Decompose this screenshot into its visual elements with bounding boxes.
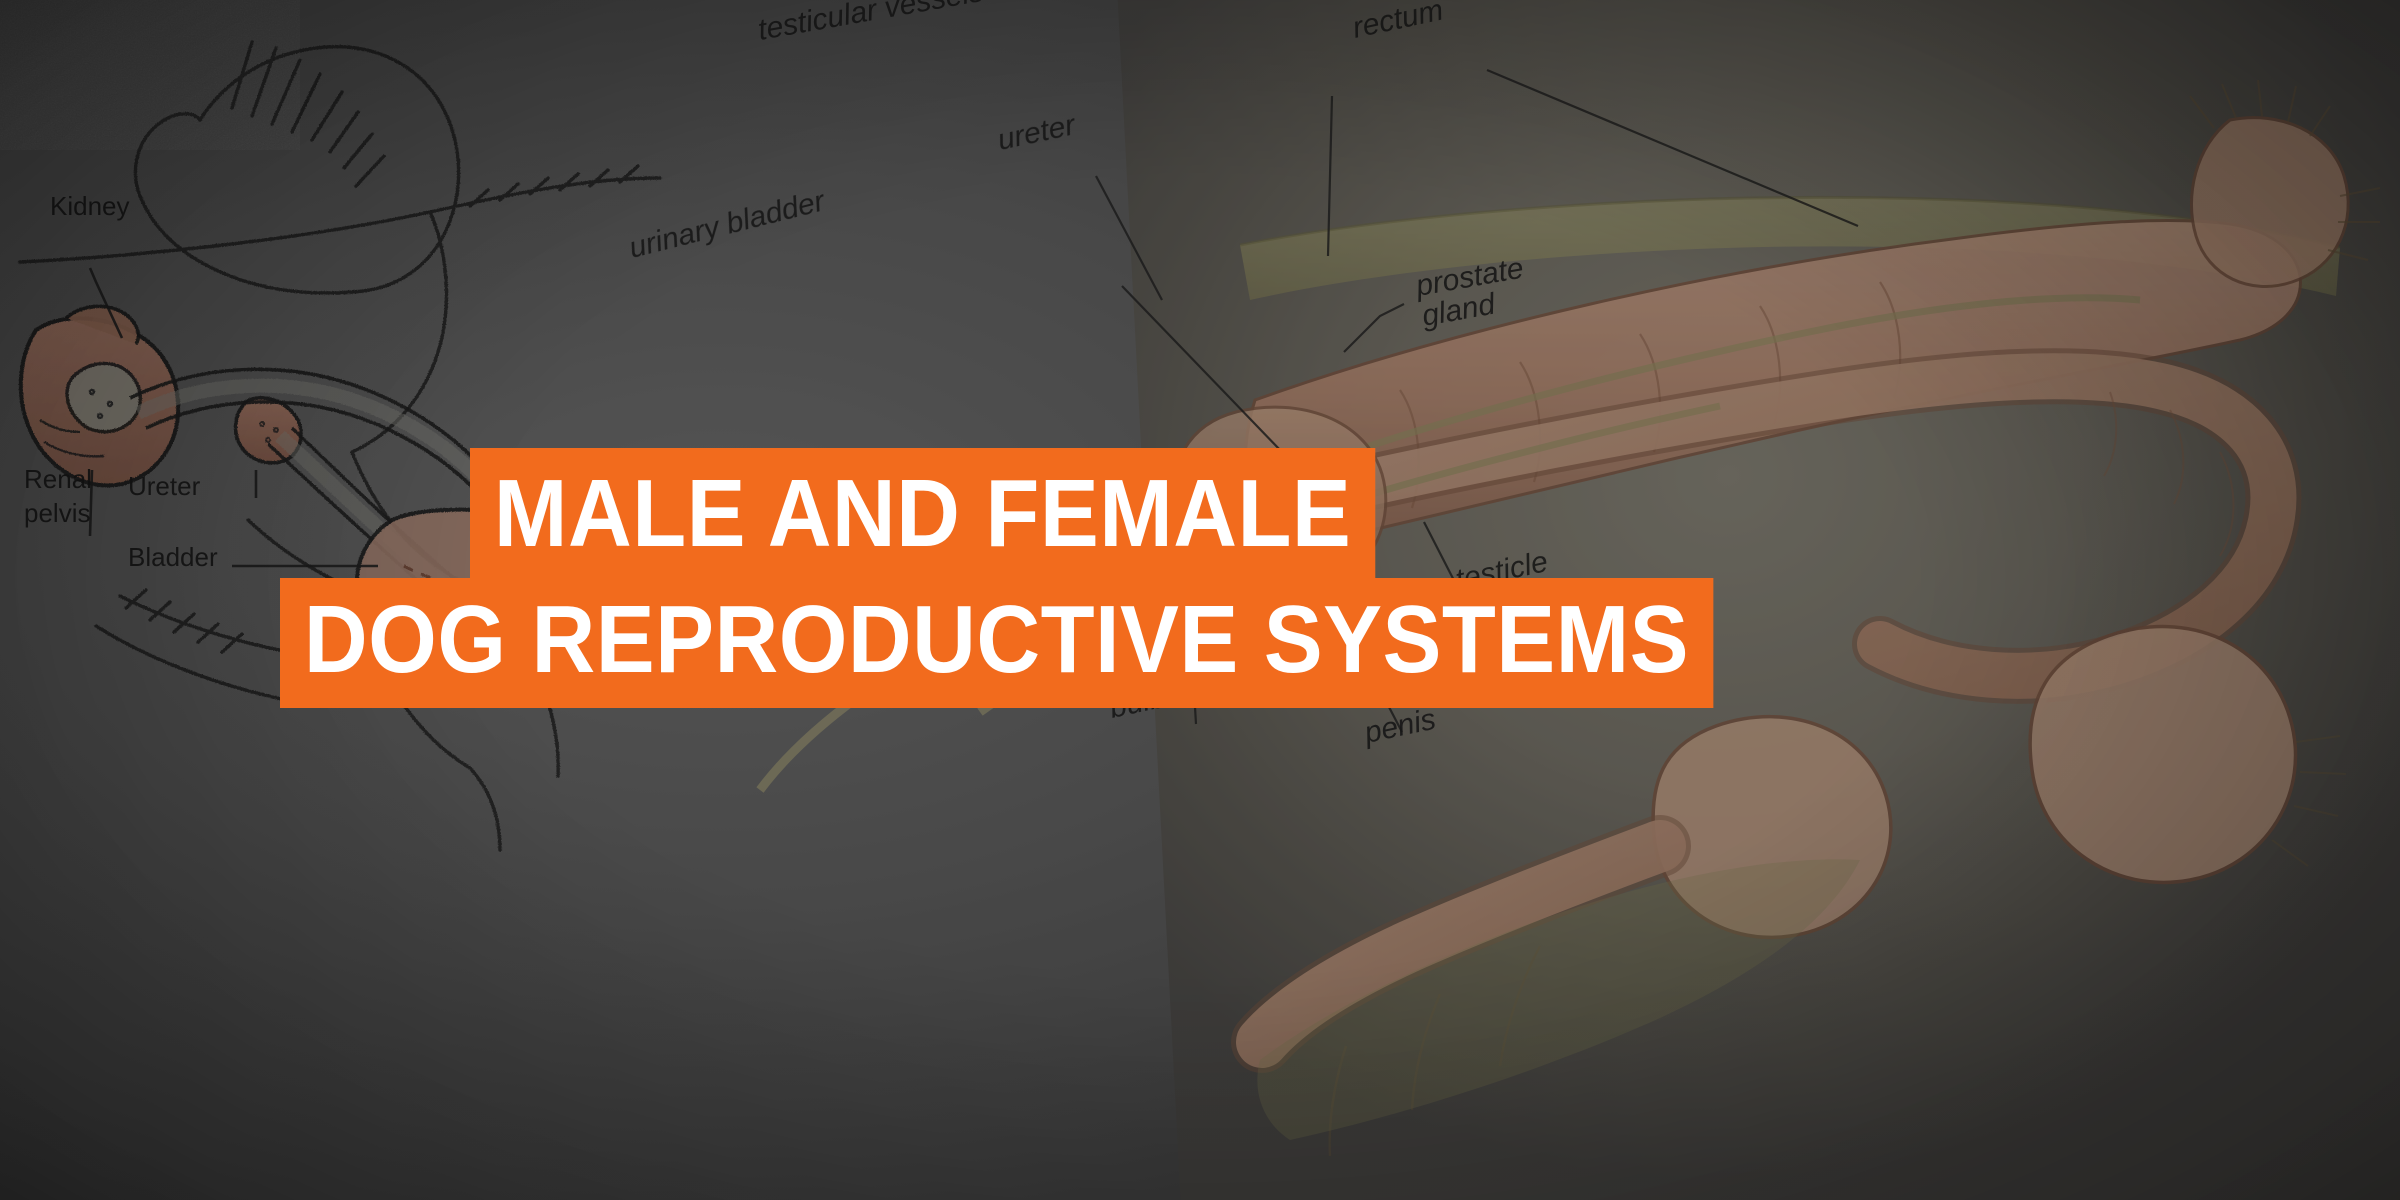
title-line-2: DOG REPRODUCTIVE SYSTEMS [280,578,1713,708]
diagram-label: rectum [1350,0,1447,45]
diagram-label: urinary bladder [626,184,829,265]
diagram-label: Kidney [50,191,130,221]
diagram-label: ureter [995,108,1080,157]
banner-image: KidneyRenalpelvisUreterBladderUrethra [0,0,2400,1200]
diagram-label: testicular vessels [755,0,986,47]
banner-title-block: MALE AND FEMALE DOG REPRODUCTIVE SYSTEMS [0,448,2400,708]
title-line-1: MALE AND FEMALE [470,448,1375,578]
diagram-label: penis [1361,703,1439,750]
